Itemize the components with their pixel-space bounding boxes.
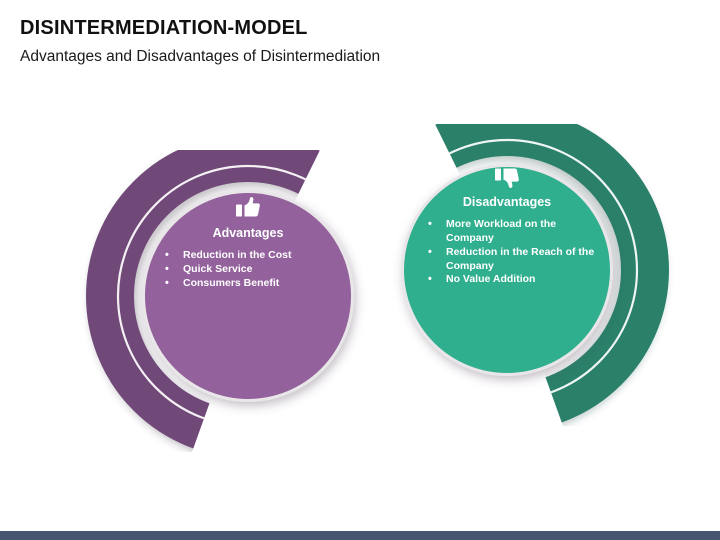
list-item: No Value Addition	[428, 273, 602, 287]
diagram-stage	[0, 0, 720, 540]
list-item: Consumers Benefit	[165, 277, 343, 291]
list-item: Quick Service	[165, 263, 343, 277]
thumbs-up-icon	[143, 196, 353, 222]
advantages-bullet-list: Reduction in the Cost Quick Service Cons…	[143, 249, 353, 291]
diagram-svg	[0, 0, 720, 540]
disadvantages-heading: Disadvantages	[402, 195, 612, 210]
footer-bar	[0, 531, 720, 540]
disadvantages-panel: Disadvantages More Workload on the Compa…	[402, 165, 612, 287]
list-item: More Workload on the Company	[428, 218, 602, 246]
thumbs-down-icon	[402, 165, 612, 191]
list-item: Reduction in the Cost	[165, 249, 343, 263]
advantages-heading: Advantages	[143, 226, 353, 241]
list-item: Reduction in the Reach of the Company	[428, 246, 602, 274]
disadvantages-bullet-list: More Workload on the Company Reduction i…	[402, 218, 612, 287]
advantages-panel: Advantages Reduction in the Cost Quick S…	[143, 196, 353, 291]
slide-canvas: DISINTERMEDIATION-MODEL Advantages and D…	[0, 0, 720, 540]
